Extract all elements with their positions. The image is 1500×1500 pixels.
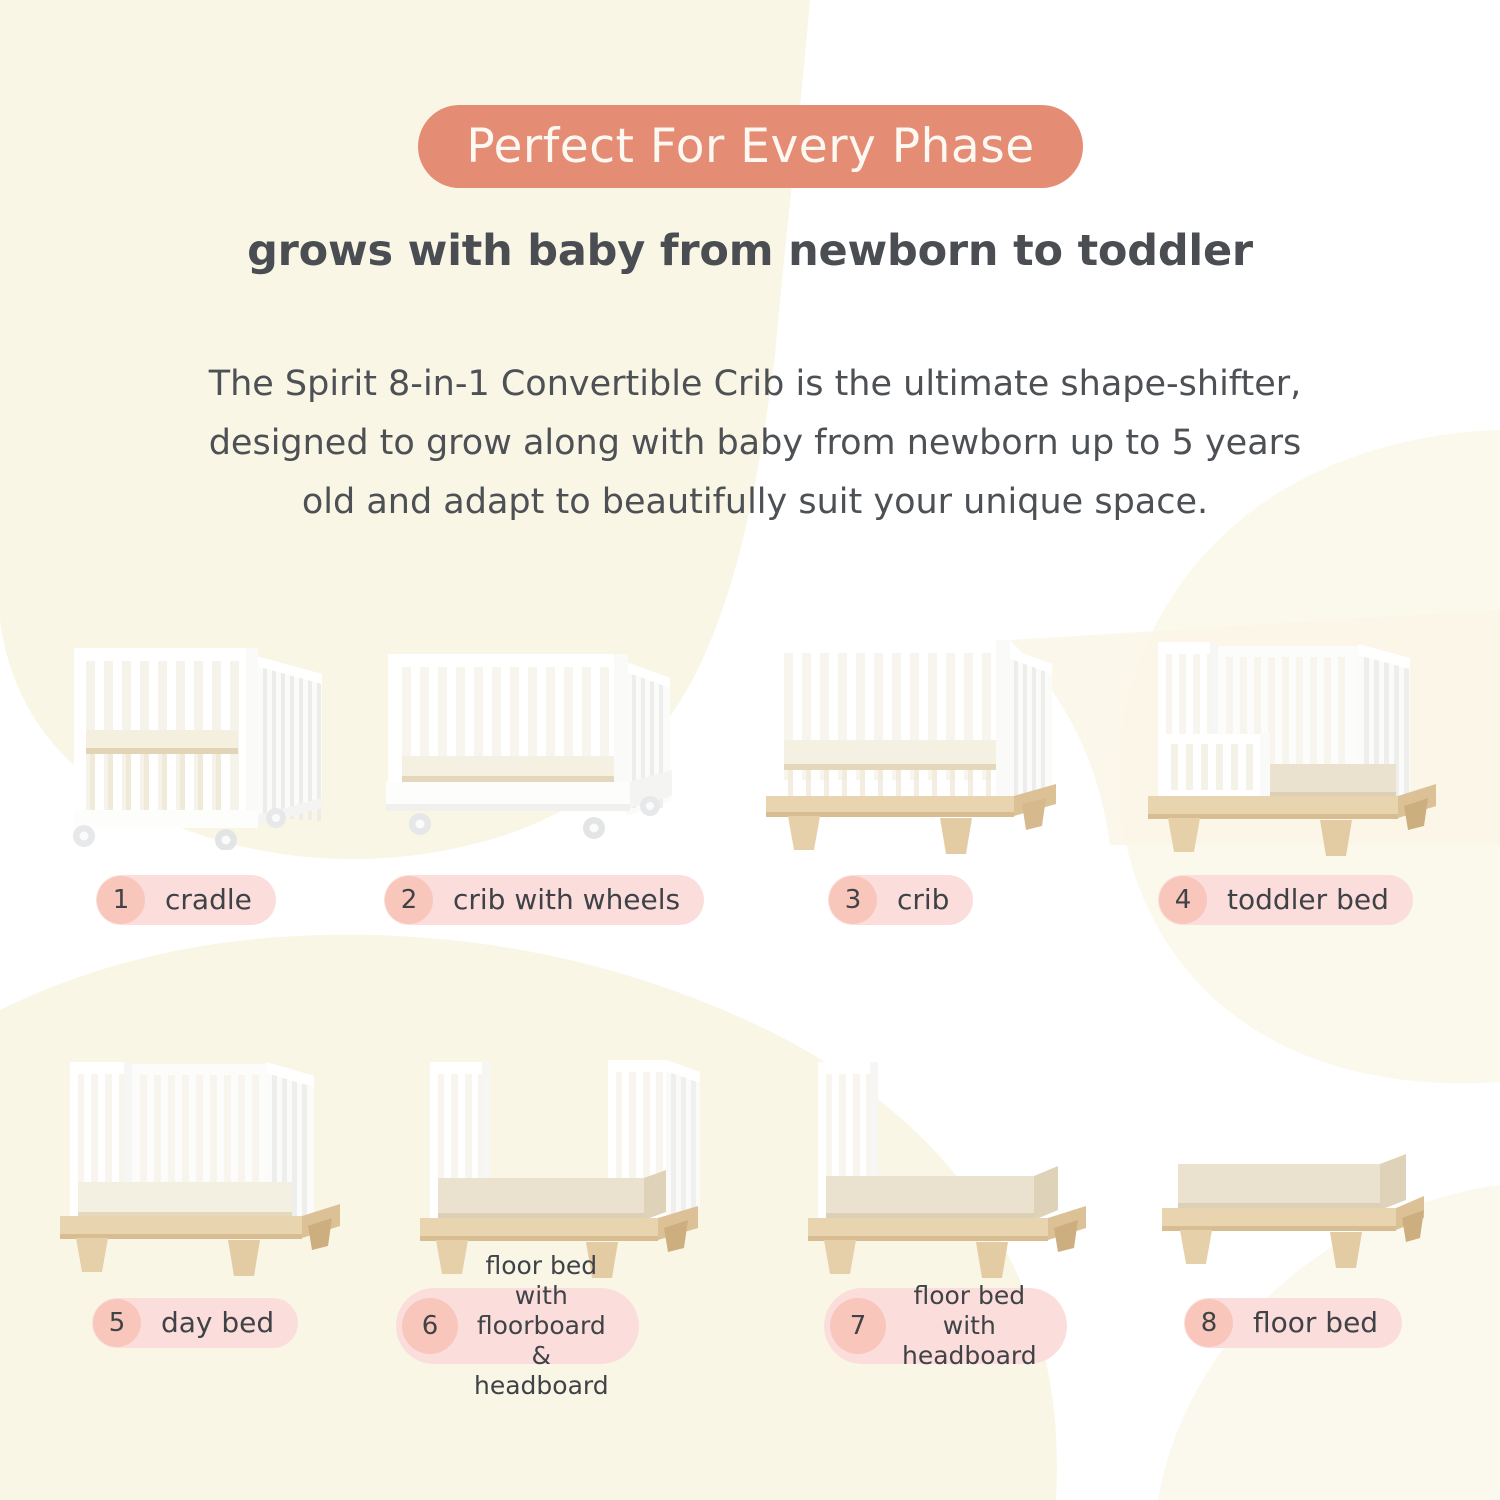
phase-label-5: day bed	[141, 1307, 274, 1339]
phase-badge-5[interactable]: 5 day bed	[92, 1298, 298, 1348]
phase-badge-1[interactable]: 1 cradle	[96, 875, 276, 925]
phase-number-7: 7	[830, 1298, 886, 1354]
eyebrow-pill: Perfect For Every Phase	[418, 105, 1083, 188]
cradle-with-casters-illustration	[60, 630, 340, 850]
body-line-1: The Spirit 8-in-1 Convertible Crib is th…	[110, 355, 1400, 414]
phase-label-7-line-2: headboard	[902, 1341, 1037, 1370]
phase-badge-6[interactable]: 6 floor bed with floorboard & headboard	[396, 1288, 639, 1364]
body-paragraph: The Spirit 8-in-1 Convertible Crib is th…	[110, 355, 1400, 532]
phase-number-5: 5	[93, 1299, 141, 1347]
phase-row-bottom: 5 day bed	[0, 1030, 1500, 1380]
phase-label-6-line-1: floor bed with floorboard	[477, 1251, 606, 1340]
phase-number-2: 2	[385, 876, 433, 924]
eyebrow-pill-label: Perfect For Every Phase	[466, 119, 1034, 174]
phase-label-1: cradle	[145, 884, 252, 916]
phase-number-6: 6	[402, 1298, 458, 1354]
phase-row-top: 1 cradle	[0, 620, 1500, 950]
phase-label-4: toddler bed	[1207, 884, 1389, 916]
page-subtitle: grows with baby from newborn to toddler	[0, 226, 1500, 276]
phase-badge-3[interactable]: 3 crib	[828, 875, 973, 925]
phase-label-3: crib	[877, 884, 949, 916]
floor-bed-platform-illustration	[1158, 1140, 1428, 1280]
phase-badge-4[interactable]: 4 toddler bed	[1158, 875, 1413, 925]
phase-badge-2[interactable]: 2 crib with wheels	[384, 875, 704, 925]
body-line-3: old and adapt to beautifully suit your u…	[110, 473, 1400, 532]
phase-label-2: crib with wheels	[433, 884, 680, 916]
phase-number-1: 1	[97, 876, 145, 924]
phase-badge-8[interactable]: 8 floor bed	[1184, 1298, 1402, 1348]
phase-label-6: floor bed with floorboard & headboard	[458, 1251, 613, 1401]
toddler-bed-with-guard-rail-illustration	[1138, 628, 1448, 858]
phase-number-4: 4	[1159, 876, 1207, 924]
crib-with-wheels-illustration	[378, 634, 678, 850]
phase-label-6-line-2: & headboard	[474, 1341, 609, 1400]
floor-bed-headboard-footboard-illustration	[412, 1048, 712, 1278]
phase-number-3: 3	[829, 876, 877, 924]
crib-with-wood-base-illustration	[760, 628, 1060, 856]
phase-label-7-line-1: floor bed with	[913, 1281, 1025, 1340]
phase-label-7: floor bed with headboard	[886, 1281, 1041, 1371]
phase-number-8: 8	[1185, 1299, 1233, 1347]
phase-label-8: floor bed	[1233, 1307, 1378, 1339]
day-bed-illustration	[52, 1048, 342, 1278]
floor-bed-headboard-illustration	[800, 1048, 1090, 1278]
body-line-2: designed to grow along with baby from ne…	[110, 414, 1400, 473]
phase-badge-7[interactable]: 7 floor bed with headboard	[824, 1288, 1067, 1364]
